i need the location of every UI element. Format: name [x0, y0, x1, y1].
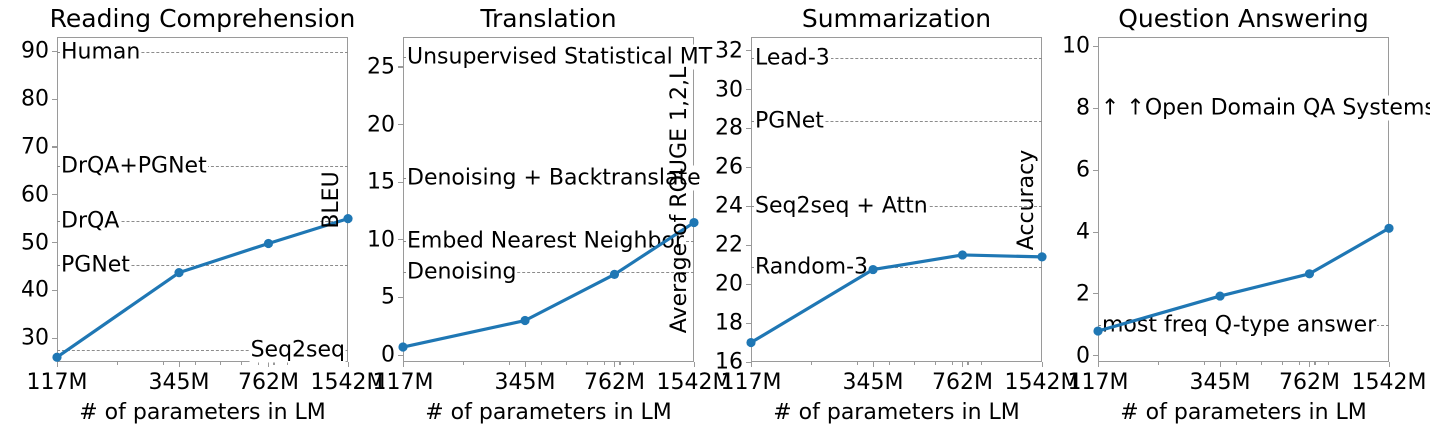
chart-panel-4: Question Answering0246810Accuracy117M345… — [0, 0, 1430, 429]
data-point-marker — [1215, 291, 1224, 300]
data-point-marker — [1384, 224, 1393, 233]
data-point-marker — [1305, 269, 1314, 278]
gpt2-zero-shot-performance-figure: Reading Comprehension30405060708090F1117… — [0, 0, 1430, 429]
series-line — [1098, 228, 1389, 331]
data-point-marker — [1093, 326, 1102, 335]
data-series — [0, 0, 1430, 429]
